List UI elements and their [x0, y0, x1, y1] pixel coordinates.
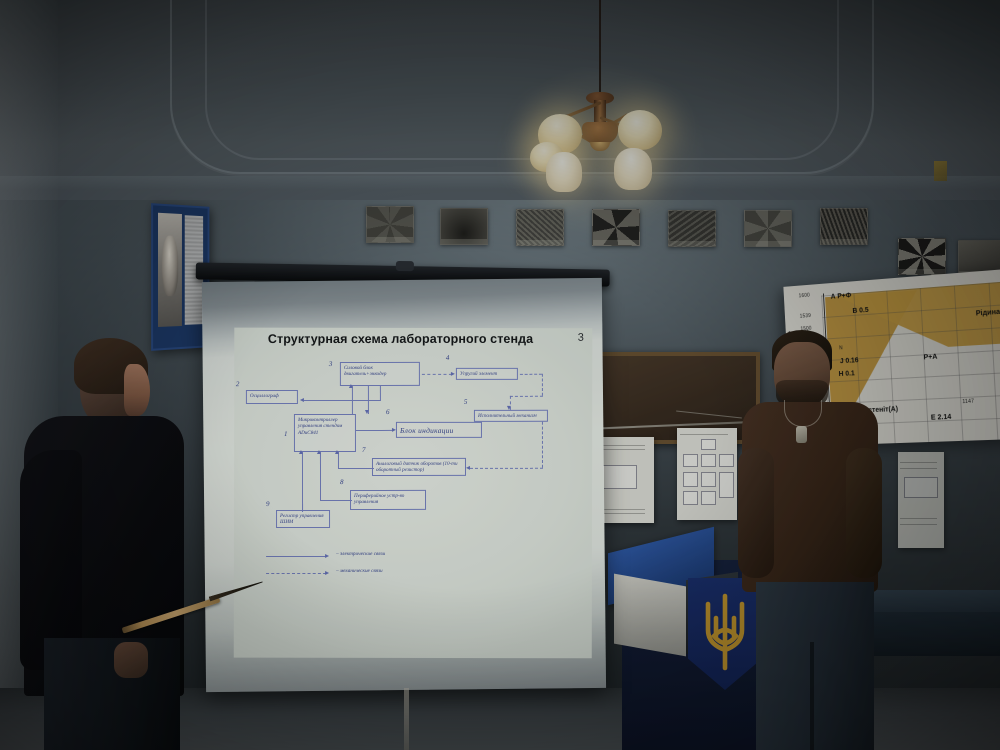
diagram-node-7: Аналоговый датчик оборотов (10-ти оборот… [372, 458, 466, 476]
legend-label-electrical: – электрические связи [336, 551, 385, 557]
poster-line-1147: 1147 [962, 399, 974, 406]
attendee-arm-right [846, 448, 882, 578]
arrow-up [349, 384, 353, 388]
arrow-up [317, 450, 321, 454]
link-3-to-2-h [304, 400, 381, 401]
diagram-node-number-6: 6 [386, 408, 390, 416]
slide-number: 3 [578, 332, 584, 344]
poster-tick: 1539 [800, 313, 811, 320]
portrait-photo [158, 213, 182, 327]
link-7-to-1-v [338, 452, 339, 468]
micrograph-specimen [820, 208, 868, 245]
arrow-right [325, 553, 329, 557]
legend-solid-line [266, 556, 326, 557]
attendee-arm-left [738, 448, 774, 578]
mech-link-4-down [542, 374, 543, 396]
screen-surface: Структурная схема лабораторного стенда 3… [202, 278, 606, 692]
link-1-to-6 [356, 430, 394, 431]
legend-dashed-line [266, 573, 326, 574]
link-3-to-2-v [380, 386, 381, 400]
diagram-node-1: Микроконтроллер управления стендом ADuC8… [294, 414, 356, 452]
diagram-node-number-9: 9 [266, 500, 270, 508]
diagram-node-number-8: 8 [340, 478, 344, 486]
presenter-face [124, 364, 150, 416]
link-9-to-1-v [302, 452, 303, 510]
mech-link-5-to-7 [542, 422, 543, 468]
mech-link-3-to-4 [422, 374, 452, 375]
micrograph-specimen [898, 238, 946, 275]
arrow-up [335, 450, 339, 454]
screen-bracket [396, 261, 414, 271]
diagram-node-number-2: 2 [236, 380, 240, 388]
room-scene: 1600 1539 1500 1392 1300 1200 1100 1000 … [0, 0, 1000, 750]
arrow-left [466, 465, 470, 469]
diagram-node-5: Исполнительный механизм [474, 410, 548, 422]
micrograph-specimen [668, 210, 716, 247]
chandelier-hub [582, 122, 618, 144]
diagram-node-number-1: 1 [284, 430, 288, 438]
slide-content: Структурная схема лабораторного стенда 3… [232, 326, 594, 656]
attendee-right [742, 330, 922, 750]
wall-ceiling-seam [0, 176, 1000, 190]
link-8-to-1-v [320, 452, 321, 500]
diagram-node-number-7: 7 [362, 446, 366, 454]
arrow-down [365, 410, 369, 414]
chandelier-cord [599, 0, 601, 96]
chandelier-shade [618, 110, 662, 150]
link-7-to-1-h [338, 468, 374, 469]
presenter-left [18, 338, 208, 750]
hanging-poster [677, 428, 737, 520]
diagram-node-6: Блок индикации [396, 422, 482, 438]
link-9-stub [302, 504, 303, 512]
poster-region-p-plus-a: P+A [923, 354, 937, 362]
diagram-node-8: Периферийное устр-во управления [350, 490, 426, 510]
micrograph-specimen [744, 210, 792, 247]
poster-tick: 1600 [799, 293, 810, 300]
diagram-node-9: Регистр управления ШИМ [276, 510, 330, 528]
micrograph-specimen [440, 208, 488, 245]
attendee-jeans [756, 582, 874, 750]
slide-title: Структурная схема лабораторного стенда [268, 332, 548, 346]
presenter-arm [20, 450, 82, 670]
legend-label-mechanical: – механические связи [336, 568, 383, 574]
chandelier-shade [614, 148, 652, 190]
chandelier-shade [546, 152, 582, 192]
micrograph-specimen [366, 206, 414, 243]
micrograph-specimen [516, 209, 564, 246]
poster-point-e: E 2.14 [931, 414, 952, 422]
arrow-right [392, 427, 396, 431]
dog-tag-pendant [796, 426, 807, 443]
diagram-node-number-5: 5 [464, 398, 468, 406]
arrow-up [299, 450, 303, 454]
diagram-node-number-3: 3 [329, 360, 333, 368]
arrow-right [325, 570, 329, 574]
block-diagram: Силовой блок двигатель+энкодер 3 Упругий… [232, 354, 594, 654]
arrow-down [507, 406, 511, 410]
diagram-node-number-4: 4 [446, 354, 450, 362]
chandelier [520, 0, 680, 200]
diagram-node-2: Осциллограф [246, 390, 298, 404]
micrograph-specimen [592, 209, 640, 246]
link-8-to-1-h [320, 500, 352, 501]
diagram-node-4: Упругий элемент [456, 368, 518, 380]
projection-screen: Структурная схема лабораторного стенда 3… [194, 264, 617, 716]
ceiling [0, 0, 1000, 200]
arrow-left [300, 398, 304, 402]
lectern-front-panel [614, 574, 686, 657]
screen-tripod-leg [404, 688, 409, 750]
presenter-hand [114, 642, 148, 678]
wall-plaque [934, 161, 947, 181]
mech-link-5-to-7-h [470, 468, 543, 469]
mech-link-to-5 [510, 396, 543, 397]
arrow-right [451, 371, 455, 375]
mech-link-4-out [520, 374, 542, 375]
poster-point-b: B 0.5 [852, 307, 868, 315]
presenter-legs [44, 638, 180, 750]
diagram-node-3: Силовой блок двигатель+энкодер [340, 362, 420, 386]
